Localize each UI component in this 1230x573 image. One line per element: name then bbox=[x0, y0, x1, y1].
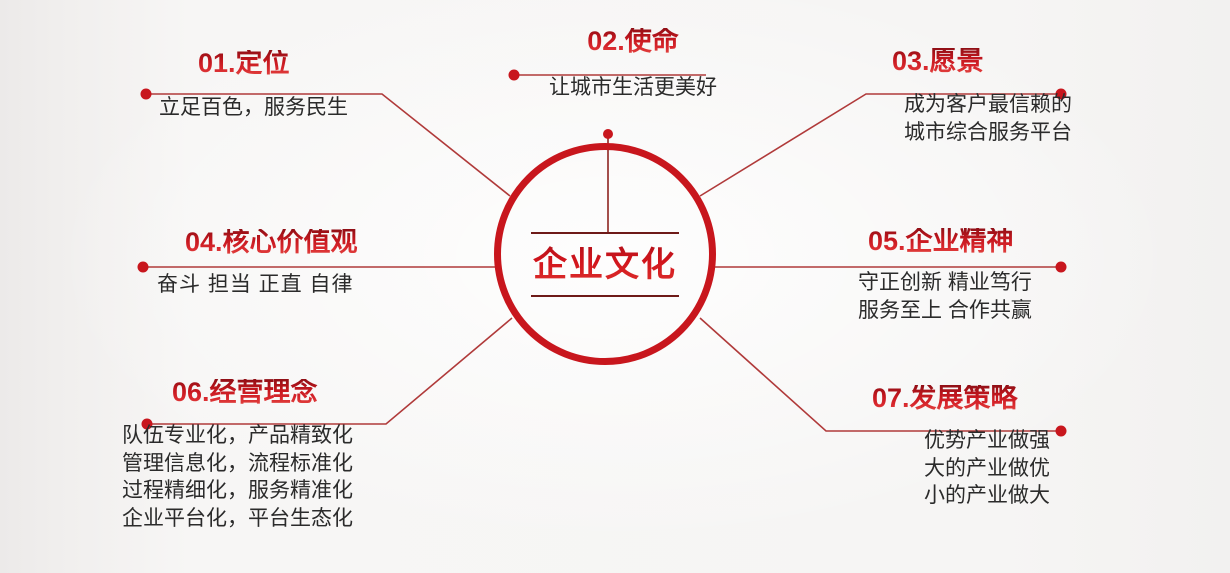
node-02-body: 让城市生活更美好 bbox=[508, 74, 758, 102]
node-01-body: 立足百色，服务民生 bbox=[159, 94, 475, 122]
node-07-body: 优势产业做强 大的产业做优 小的产业做大 bbox=[862, 427, 1112, 510]
node-06-heading: 06.经营理念 bbox=[172, 379, 482, 406]
node-05-heading: 05.企业精神 bbox=[868, 228, 1108, 255]
culture-diagram: 企业文化 01.定位 立足百色，服务民生 02.使命 让城市生活更美好 03.愿… bbox=[0, 0, 1230, 573]
node-03-heading: 03.愿景 bbox=[892, 48, 1110, 75]
center-label: 企业文化 bbox=[497, 232, 713, 297]
node-04-core-values: 04.核心价值观 奋斗 担当 正直 自律 bbox=[140, 229, 480, 299]
node-07-heading: 07.发展策略 bbox=[872, 385, 1112, 412]
node-05-body: 守正创新 精业笃行 服务至上 合作共赢 bbox=[858, 269, 1108, 324]
node-07-development-strategy: 07.发展策略 优势产业做强 大的产业做优 小的产业做大 bbox=[862, 385, 1112, 510]
node-02-mission: 02.使命 让城市生活更美好 bbox=[508, 28, 758, 102]
node-04-heading: 04.核心价值观 bbox=[185, 229, 480, 256]
node-01-heading: 01.定位 bbox=[198, 50, 475, 77]
node-04-body: 奋斗 担当 正直 自律 bbox=[157, 271, 480, 299]
node-05-enterprise-spirit: 05.企业精神 守正创新 精业笃行 服务至上 合作共赢 bbox=[858, 228, 1108, 324]
center-rule-bottom bbox=[531, 295, 679, 297]
node-06-body: 队伍专业化，产品精致化 管理信息化，流程标准化 过程精细化，服务精准化 企业平台… bbox=[122, 422, 482, 533]
center-title: 企业文化 bbox=[497, 234, 713, 295]
node-03-vision: 03.愿景 成为客户最信赖的 城市综合服务平台 bbox=[860, 48, 1110, 146]
node-02-heading: 02.使命 bbox=[508, 28, 758, 55]
node-06-business-philosophy: 06.经营理念 队伍专业化，产品精致化 管理信息化，流程标准化 过程精细化，服务… bbox=[122, 379, 482, 533]
endpoint-dot-02-stem bbox=[603, 129, 613, 139]
node-03-body: 成为客户最信赖的 城市综合服务平台 bbox=[866, 91, 1110, 146]
node-01-positioning: 01.定位 立足百色，服务民生 bbox=[145, 50, 475, 122]
